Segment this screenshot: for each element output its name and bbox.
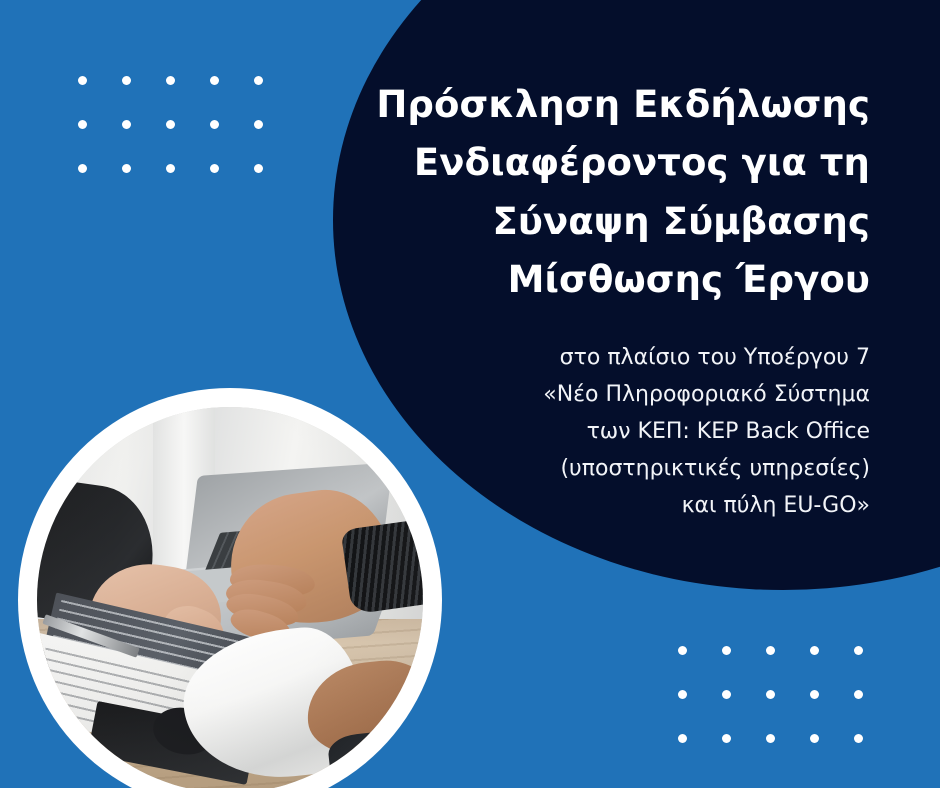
subtitle-line-1: στο πλαίσιο του Υποέργου 7: [370, 340, 870, 377]
decorative-dot: [122, 164, 131, 173]
poster-canvas: Πρόσκληση Εκδήλωσης Ενδιαφέροντος για τη…: [0, 0, 940, 788]
decorative-dot: [254, 164, 263, 173]
meeting-photo: [37, 407, 423, 788]
decorative-dot: [166, 164, 175, 173]
decorative-dot: [678, 734, 687, 743]
decorative-dot: [810, 734, 819, 743]
decorative-dot: [854, 690, 863, 699]
decorative-dot: [810, 646, 819, 655]
decorative-dot: [210, 76, 219, 85]
decorative-dot: [854, 734, 863, 743]
decorative-dot: [854, 646, 863, 655]
subtitle-line-4: (υποστηρικτικές υπηρεσίες): [370, 451, 870, 488]
decorative-dot: [722, 734, 731, 743]
photo-vignette-overlay: [37, 407, 423, 788]
headline-line-1: Πρόσκληση Εκδήλωσης: [370, 76, 870, 134]
subtitle-line-2: «Νέο Πληροφοριακό Σύστημα: [370, 377, 870, 414]
decorative-dot: [78, 120, 87, 129]
page-title: Πρόσκληση Εκδήλωσης Ενδιαφέροντος για τη…: [370, 76, 870, 310]
decorative-dot: [210, 164, 219, 173]
headline-line-2: Ενδιαφέροντος για τη: [370, 134, 870, 192]
decorative-dot: [766, 646, 775, 655]
decorative-dot: [678, 690, 687, 699]
page-subtitle: στο πλαίσιο του Υποέργου 7 «Νέο Πληροφορ…: [370, 340, 870, 525]
decorative-dot: [78, 164, 87, 173]
decorative-dot: [254, 120, 263, 129]
headline-line-3: Σύναψη Σύμβασης: [370, 193, 870, 251]
decorative-dot: [166, 120, 175, 129]
decorative-dot: [166, 76, 175, 85]
decorative-dot: [122, 76, 131, 85]
decorative-dot: [210, 120, 219, 129]
poster-text-block: Πρόσκληση Εκδήλωσης Ενδιαφέροντος για τη…: [370, 76, 870, 525]
subtitle-line-3: των ΚΕΠ: KEP Back Office: [370, 414, 870, 451]
decorative-dot: [722, 690, 731, 699]
decorative-dot: [122, 120, 131, 129]
decorative-dot: [766, 690, 775, 699]
subtitle-line-5: και πύλη EU-GO»: [370, 488, 870, 525]
decorative-dot: [810, 690, 819, 699]
decorative-dot: [678, 646, 687, 655]
headline-line-4: Μίσθωσης Έργου: [370, 251, 870, 309]
decorative-dot: [254, 76, 263, 85]
decorative-dot: [78, 76, 87, 85]
dot-grid-top-left: [78, 76, 298, 208]
dot-grid-bottom-right: [678, 646, 898, 778]
decorative-dot: [766, 734, 775, 743]
decorative-dot: [722, 646, 731, 655]
